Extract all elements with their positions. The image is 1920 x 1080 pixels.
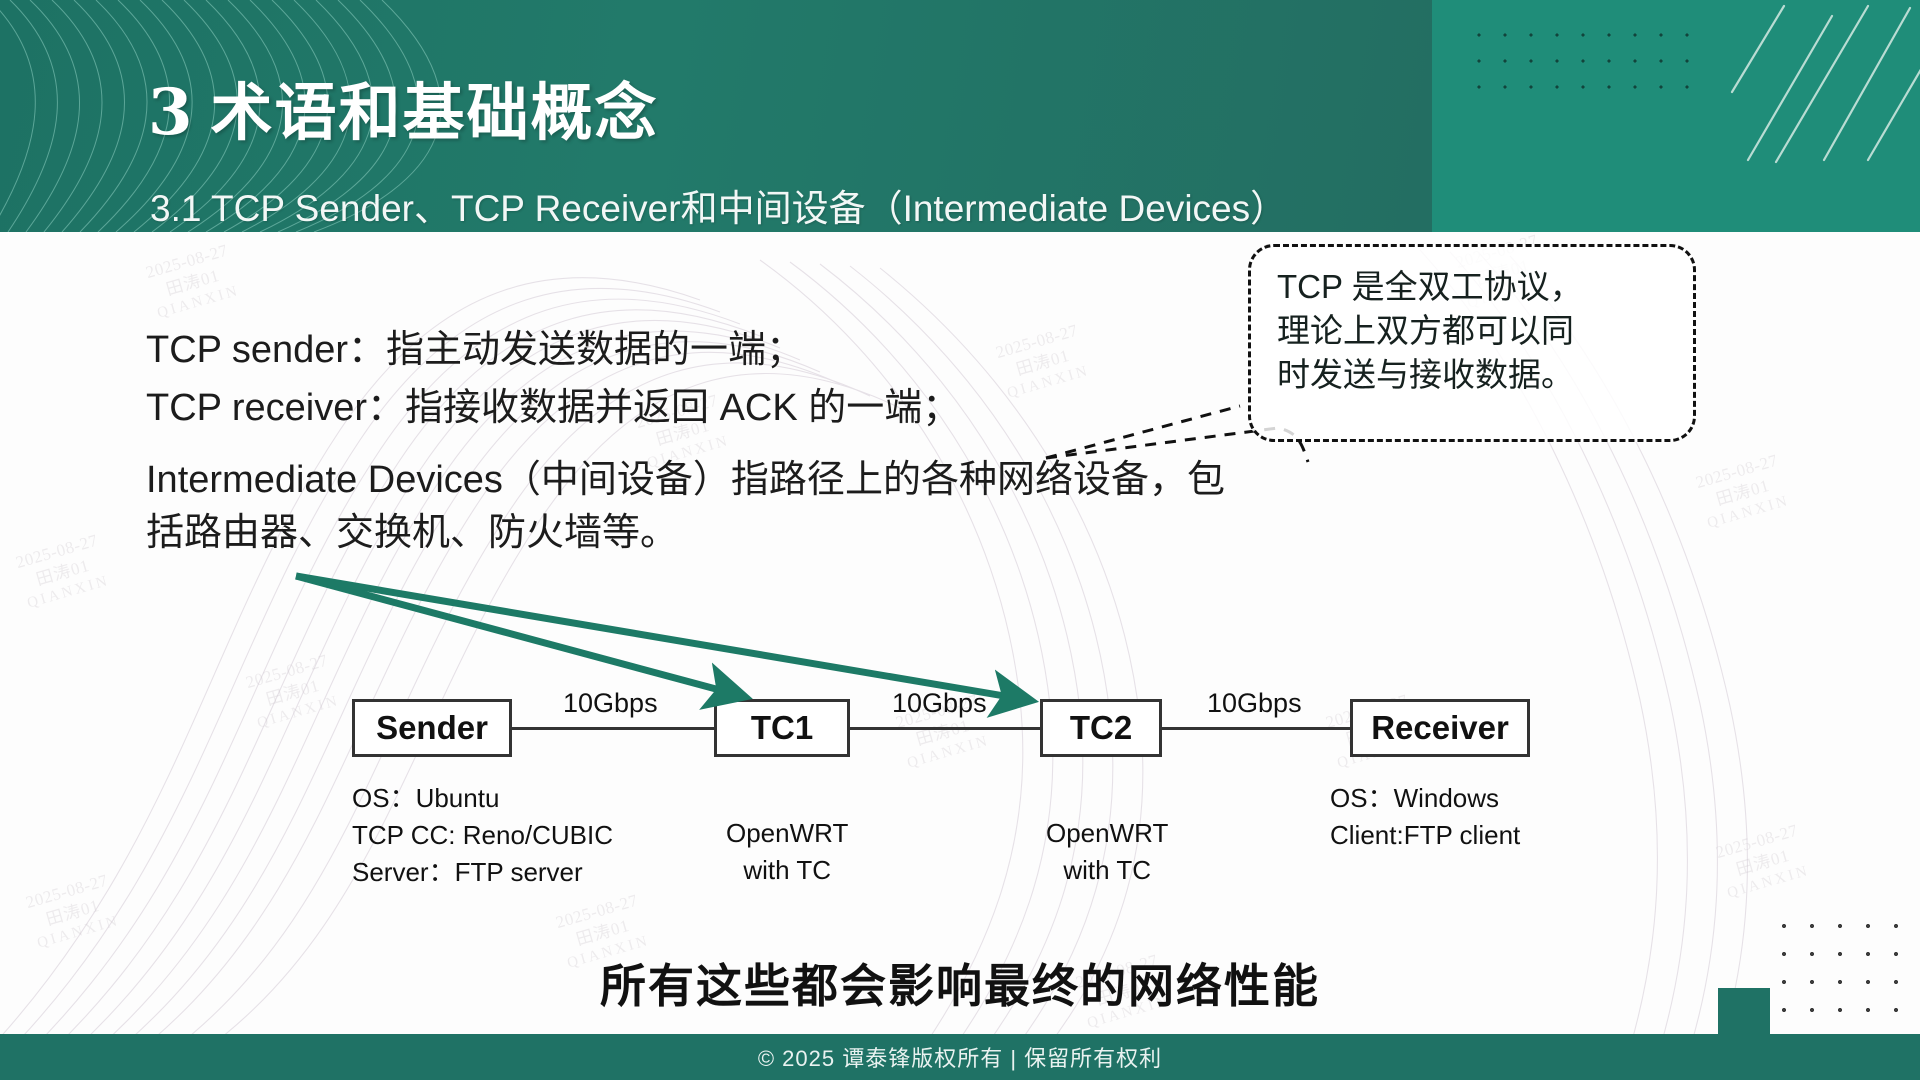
spec-tc1-tc: with TC [726, 852, 848, 889]
header-dot-pattern [1466, 22, 1696, 92]
node-sender[interactable]: Sender [352, 699, 512, 757]
spec-receiver-client: Client:FTP client [1330, 817, 1520, 854]
spec-receiver-os: OS：Windows [1330, 780, 1520, 817]
callout-bubble: TCP 是全双工协议， 理论上双方都可以同 时发送与接收数据。 [1248, 244, 1696, 442]
spec-sender-server: Server：FTP server [352, 854, 613, 891]
page-title: 3术语和基础概念 [148, 62, 659, 152]
section-title-text: 术语和基础概念 [211, 76, 659, 149]
spec-sender-os: OS：Ubuntu [352, 780, 613, 817]
spec-tc2-os: OpenWRT [1046, 815, 1168, 852]
network-topology-diagram: 10Gbps 10Gbps 10Gbps Sender TC1 TC2 Rece… [0, 640, 1920, 910]
link-tc1-tc2 [850, 727, 1040, 730]
link-tc2-receiver [1160, 727, 1350, 730]
spec-tc2: OpenWRT with TC [1046, 815, 1168, 889]
slide-header: 3术语和基础概念 3.1 TCP Sender、TCP Receiver和中间设… [0, 0, 1920, 285]
callout-line-3: 时发送与接收数据。 [1277, 353, 1671, 397]
page-subtitle: 3.1 TCP Sender、TCP Receiver和中间设备（Interme… [150, 178, 1287, 232]
definition-intermediate-line2: 括路由器、交换机、防火墙等。 [146, 507, 1225, 561]
definition-sender: TCP sender：指主动发送数据的一端； [146, 322, 1225, 380]
link-sender-tc1 [510, 727, 715, 730]
section-number: 3 [148, 75, 195, 150]
watermark-org: QIANXIN [35, 911, 122, 953]
node-tc2[interactable]: TC2 [1040, 699, 1162, 757]
spec-receiver: OS：Windows Client:FTP client [1330, 780, 1520, 854]
copyright-text: © 2025 谭泰锋版权所有 | 保留所有权利 [758, 1041, 1162, 1073]
callout-line-2: 理论上双方都可以同 [1277, 309, 1671, 353]
spec-tc2-tc: with TC [1046, 852, 1168, 889]
spec-tc1-os: OpenWRT [726, 815, 848, 852]
watermark-user: 田涛01 [1699, 470, 1787, 514]
watermark-org: QIANXIN [155, 281, 242, 323]
node-receiver[interactable]: Receiver [1350, 699, 1530, 757]
link-speed-3: 10Gbps [1207, 688, 1302, 719]
watermark-date: 2025-08-27 [13, 529, 101, 573]
watermark-date: 2025-08-27 [1693, 449, 1781, 493]
spec-sender: OS：Ubuntu TCP CC: Reno/CUBIC Server：FTP … [352, 780, 613, 891]
conclusion-text: 所有这些都会影响最终的网络性能 [0, 950, 1920, 1016]
spec-sender-cc: TCP CC: Reno/CUBIC [352, 817, 613, 854]
slide-canvas: 2025-08-27田涛01QIANXIN 2025-08-27田涛01QIAN… [0, 0, 1920, 1080]
watermark-org: QIANXIN [1705, 491, 1792, 533]
watermark-org: QIANXIN [25, 571, 112, 613]
link-speed-1: 10Gbps [563, 688, 658, 719]
callout-line-1: TCP 是全双工协议， [1277, 265, 1671, 309]
spec-tc1: OpenWRT with TC [726, 815, 848, 889]
node-tc1[interactable]: TC1 [714, 699, 850, 757]
footer-bar: © 2025 谭泰锋版权所有 | 保留所有权利 [0, 1034, 1920, 1080]
link-speed-2: 10Gbps [892, 688, 987, 719]
watermark-user: 田涛01 [19, 550, 107, 594]
watermark-user: 田涛01 [559, 910, 647, 954]
